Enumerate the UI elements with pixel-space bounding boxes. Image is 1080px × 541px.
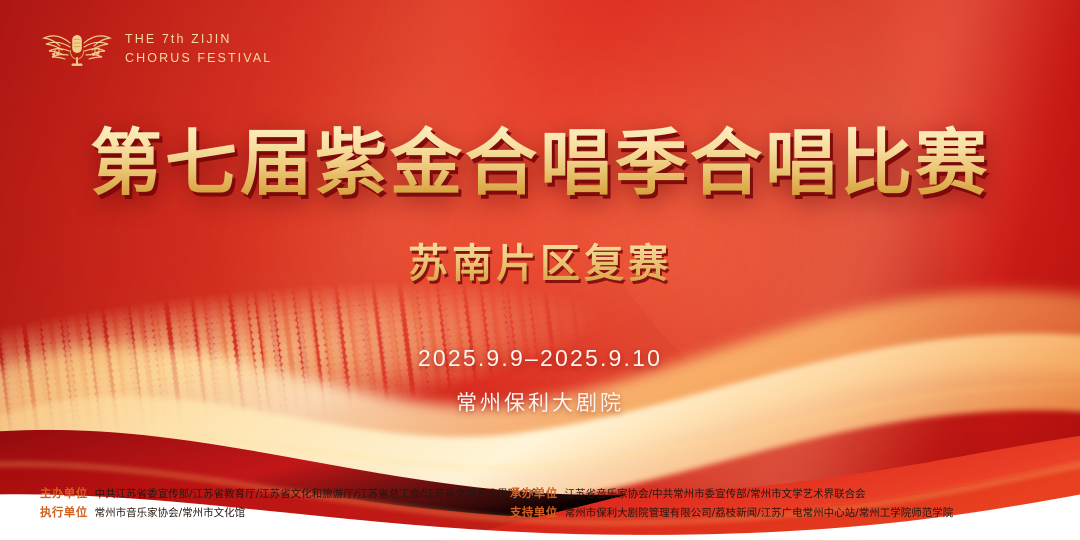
logo-line-1: THE 7th ZIJIN <box>125 32 272 48</box>
festival-logo: THE 7th ZIJIN CHORUS FESTIVAL <box>40 27 272 71</box>
credit-value: 常州市保利大剧院管理有限公司/荔枝新闻/江苏广电常州中心站/常州工学院师范学院 <box>565 505 954 520</box>
logo-line-2: CHORUS FESTIVAL <box>125 51 272 67</box>
credit-row: 主办单位 中共江苏省委宣传部/江苏省教育厅/江苏省文化和旅游厅/江苏省总工会/江… <box>40 485 510 501</box>
event-meta: 2025.9.9–2025.9.10 常州保利大剧院 <box>0 345 1080 417</box>
credit-value: 常州市音乐家协会/常州市文化馆 <box>95 505 246 520</box>
logo-wordmark: THE 7th ZIJIN CHORUS FESTIVAL <box>125 32 272 66</box>
credits-column-left: 主办单位 中共江苏省委宣传部/江苏省教育厅/江苏省文化和旅游厅/江苏省总工会/江… <box>40 485 510 533</box>
credit-label: 承办单位 <box>510 485 558 501</box>
credit-row: 支持单位 常州市保利大剧院管理有限公司/荔枝新闻/江苏广电常州中心站/常州工学院… <box>510 504 953 520</box>
credit-label: 支持单位 <box>510 504 558 520</box>
credit-label: 主办单位 <box>40 485 88 501</box>
credits-footer: 主办单位 中共江苏省委宣传部/江苏省教育厅/江苏省文化和旅游厅/江苏省总工会/江… <box>0 485 1080 533</box>
headline-block: 第七届紫金合唱季合唱比赛 苏南片区复赛 2025.9.9–2025.9.10 常… <box>0 124 1080 417</box>
page-title: 第七届紫金合唱季合唱比赛 <box>0 124 1080 205</box>
credit-value: 江苏省音乐家协会/中共常州市委宣传部/常州市文学艺术界联合会 <box>565 486 866 501</box>
winged-microphone-icon <box>40 27 114 71</box>
poster-canvas: THE 7th ZIJIN CHORUS FESTIVAL 第七届紫金合唱季合唱… <box>0 0 1080 541</box>
credit-label: 执行单位 <box>40 504 88 520</box>
credits-column-right: 承办单位 江苏省音乐家协会/中共常州市委宣传部/常州市文学艺术界联合会 支持单位… <box>510 485 953 533</box>
event-venue: 常州保利大剧院 <box>0 387 1080 417</box>
credit-value: 中共江苏省委宣传部/江苏省教育厅/江苏省文化和旅游厅/江苏省总工会/江苏省文学艺… <box>95 486 540 501</box>
page-subtitle: 苏南片区复赛 <box>0 231 1080 289</box>
event-date: 2025.9.9–2025.9.10 <box>0 345 1080 372</box>
credit-row: 执行单位 常州市音乐家协会/常州市文化馆 <box>40 504 510 520</box>
credit-row: 承办单位 江苏省音乐家协会/中共常州市委宣传部/常州市文学艺术界联合会 <box>510 485 953 501</box>
